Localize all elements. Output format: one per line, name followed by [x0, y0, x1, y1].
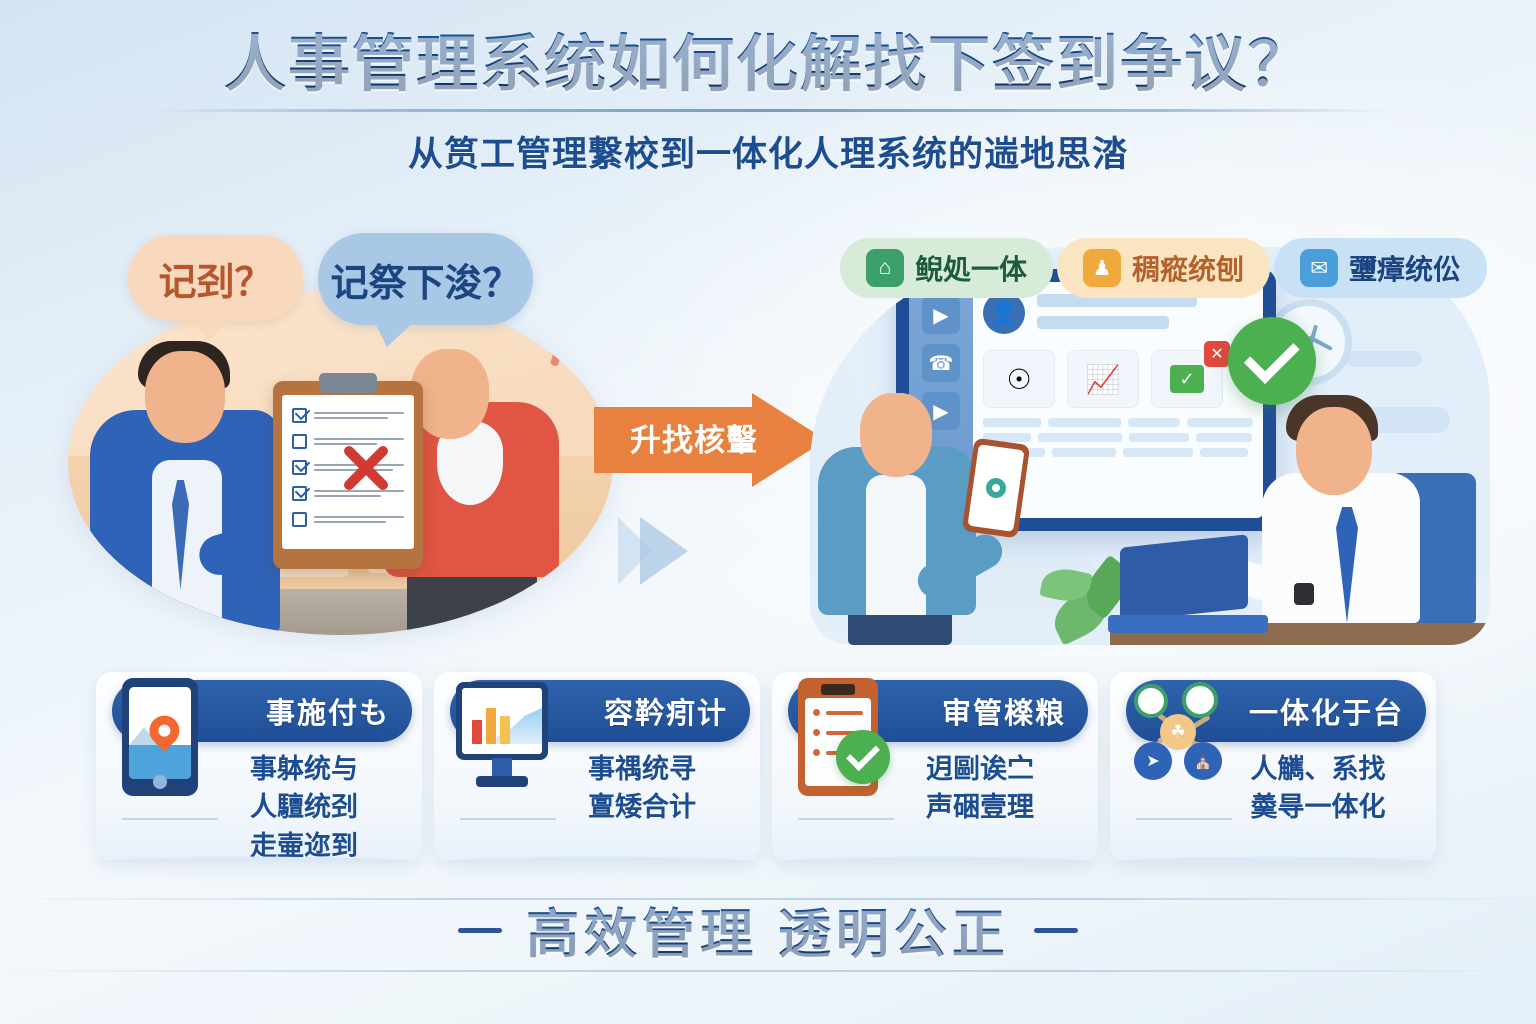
placeholder-bar	[1037, 316, 1169, 329]
feature-card-row: 事施付も 事躰统与 人驙统刭 走壷迩到 容靲㽼计	[96, 672, 1448, 862]
card-title: 审管檪粮	[942, 690, 1066, 732]
hr-man-figure	[1206, 385, 1476, 645]
page-title: 人事管理系统如何化解找下签到争议？	[0, 32, 1536, 97]
play-icon: ▶	[922, 296, 960, 334]
card-line: 迌剾诶㝉	[880, 750, 1080, 788]
page-subtitle: 从筼工管理繋校到一体化人理系统的遄地思涾	[0, 126, 1536, 177]
hr-woman-figure	[818, 385, 1008, 645]
hub-node-send-icon: ➤	[1134, 742, 1172, 780]
network-hub-icon: ☘ ➤ ⛪	[1132, 678, 1224, 798]
hub-node-green	[1182, 682, 1218, 718]
checkbox-checked-icon	[292, 486, 307, 501]
badge-label: 稠瘲统刨	[1132, 248, 1244, 288]
tile-trend-icon: 📈	[1067, 350, 1139, 408]
attendance-clipboard	[273, 381, 423, 569]
card-line: 事禑统寻	[542, 750, 742, 788]
checkbox-empty-icon	[292, 434, 307, 449]
man2-head	[1296, 407, 1372, 495]
card-line: 事躰统与	[204, 750, 404, 788]
slogan-dash-left	[458, 928, 502, 933]
clipboard-clip	[319, 373, 377, 393]
slogan-row: 高效管理 透明公正	[0, 892, 1536, 968]
phone-location-icon	[118, 678, 210, 798]
card-title: 容靲㽼计	[604, 690, 728, 732]
spark-mark	[95, 326, 126, 346]
app-dot-icon	[985, 477, 1008, 500]
person-icon: ♟	[1083, 249, 1121, 287]
conflict-scene-illustration	[68, 290, 613, 635]
card-title: 事施付も	[266, 690, 390, 732]
badge-performance-stats[interactable]: ♟ 稠瘲统刨	[1057, 238, 1270, 298]
slogan-dash-right	[1034, 928, 1078, 933]
title-divider	[148, 109, 1388, 112]
checkbox-checked-icon	[292, 408, 307, 423]
wristwatch-icon	[1294, 583, 1314, 605]
card-line: 声硱壹理	[880, 788, 1080, 826]
feature-card[interactable]: 容靲㽼计 事禑统寻 亶矮合计	[434, 672, 760, 862]
badge-message-system[interactable]: ✉ 瓕瘴统伀	[1274, 238, 1487, 298]
digital-hr-scene-illustration: ▶ ☎ ▶ ↓ 👤 ☉ 📈 ✓ ✕	[810, 247, 1490, 645]
monitor-chart-icon	[456, 678, 548, 798]
location-person-icon: ⌂	[866, 249, 904, 287]
feature-card[interactable]: 一体化于台 ☘ ➤ ⛪ 人觽、系找 羮㝵一体化	[1110, 672, 1436, 862]
chevron-ghost-icon	[640, 517, 688, 585]
red-cross-icon	[337, 439, 395, 497]
envelope-icon: ✉	[1300, 249, 1338, 287]
phone-icon: ☎	[922, 344, 960, 382]
speech-bubble-orange-text: 记刭？	[158, 251, 272, 306]
card-body: 事禑统寻 亶矮合计	[542, 750, 742, 827]
badge-attendance-integration[interactable]: ⌂ 鲵処一体	[840, 238, 1053, 298]
speech-bubble-orange: 记刭？	[128, 235, 303, 321]
hub-node-green	[1134, 684, 1168, 718]
badge-label: 鲵処一体	[915, 248, 1027, 288]
woman2-head	[860, 393, 932, 477]
phone-screen	[968, 444, 1025, 532]
clipboard-check-icon	[794, 678, 886, 798]
laptop-lid	[1120, 534, 1248, 621]
card-line: 羮㝵一体化	[1218, 788, 1418, 826]
checkbox-checked-icon	[292, 460, 307, 475]
feature-badge-row: ⌂ 鲵処一体 ♟ 稠瘲统刨 ✉ 瓕瘴统伀	[840, 238, 1487, 298]
card-body: 人觽、系找 羮㝵一体化	[1218, 750, 1418, 827]
checklist-lines	[314, 514, 404, 526]
card-line: 人驙统刭	[204, 788, 404, 826]
card-body: 迌剾诶㝉 声硱壹理	[880, 750, 1080, 827]
woman2-shirt	[866, 475, 926, 615]
reject-badge-icon: ✕	[1204, 341, 1230, 367]
laptop-base	[1108, 615, 1268, 633]
feature-card[interactable]: 审管檪粮 迌剾诶㝉 声硱壹理	[772, 672, 1098, 862]
cloud-shape	[1346, 351, 1422, 367]
avatar-icon: 👤	[983, 292, 1025, 334]
speech-bubble-blue: 记祭下浚？	[318, 233, 533, 325]
man-head	[145, 351, 225, 443]
header: 人事管理系统如何化解找下签到争议？ 从筼工管理繋校到一体化人理系统的遄地思涾	[0, 32, 1536, 177]
checklist-lines	[314, 410, 404, 422]
feature-card[interactable]: 事施付も 事躰统与 人驙统刭 走壷迩到	[96, 672, 422, 862]
card-line: 走壷迩到	[204, 827, 404, 865]
checklist-row	[292, 512, 404, 527]
speech-bubble-blue-text: 记祭下浚？	[330, 252, 520, 307]
laptop-icon	[1120, 545, 1270, 633]
hub-node-building-icon: ⛪	[1184, 742, 1222, 780]
spark-mark	[576, 316, 585, 346]
checklist-row	[292, 408, 404, 423]
footer: 高效管理 透明公正	[0, 892, 1536, 968]
badge-label: 瓕瘴统伀	[1349, 248, 1461, 288]
card-line: 人觽、系找	[1218, 750, 1418, 788]
transition-arrow: 升找核轚	[594, 393, 826, 487]
arrow-label: 升找核轚	[610, 415, 778, 460]
hub-node-center: ☘	[1160, 714, 1196, 750]
footer-slogan: 高效管理 透明公正	[526, 892, 1010, 968]
card-title: 一体化于台	[1249, 690, 1404, 732]
card-body: 事躰统与 人驙统刭 走壷迩到	[204, 750, 404, 865]
checkbox-empty-icon	[292, 512, 307, 527]
woman-skirt	[407, 573, 537, 635]
card-line: 亶矮合计	[542, 788, 742, 826]
